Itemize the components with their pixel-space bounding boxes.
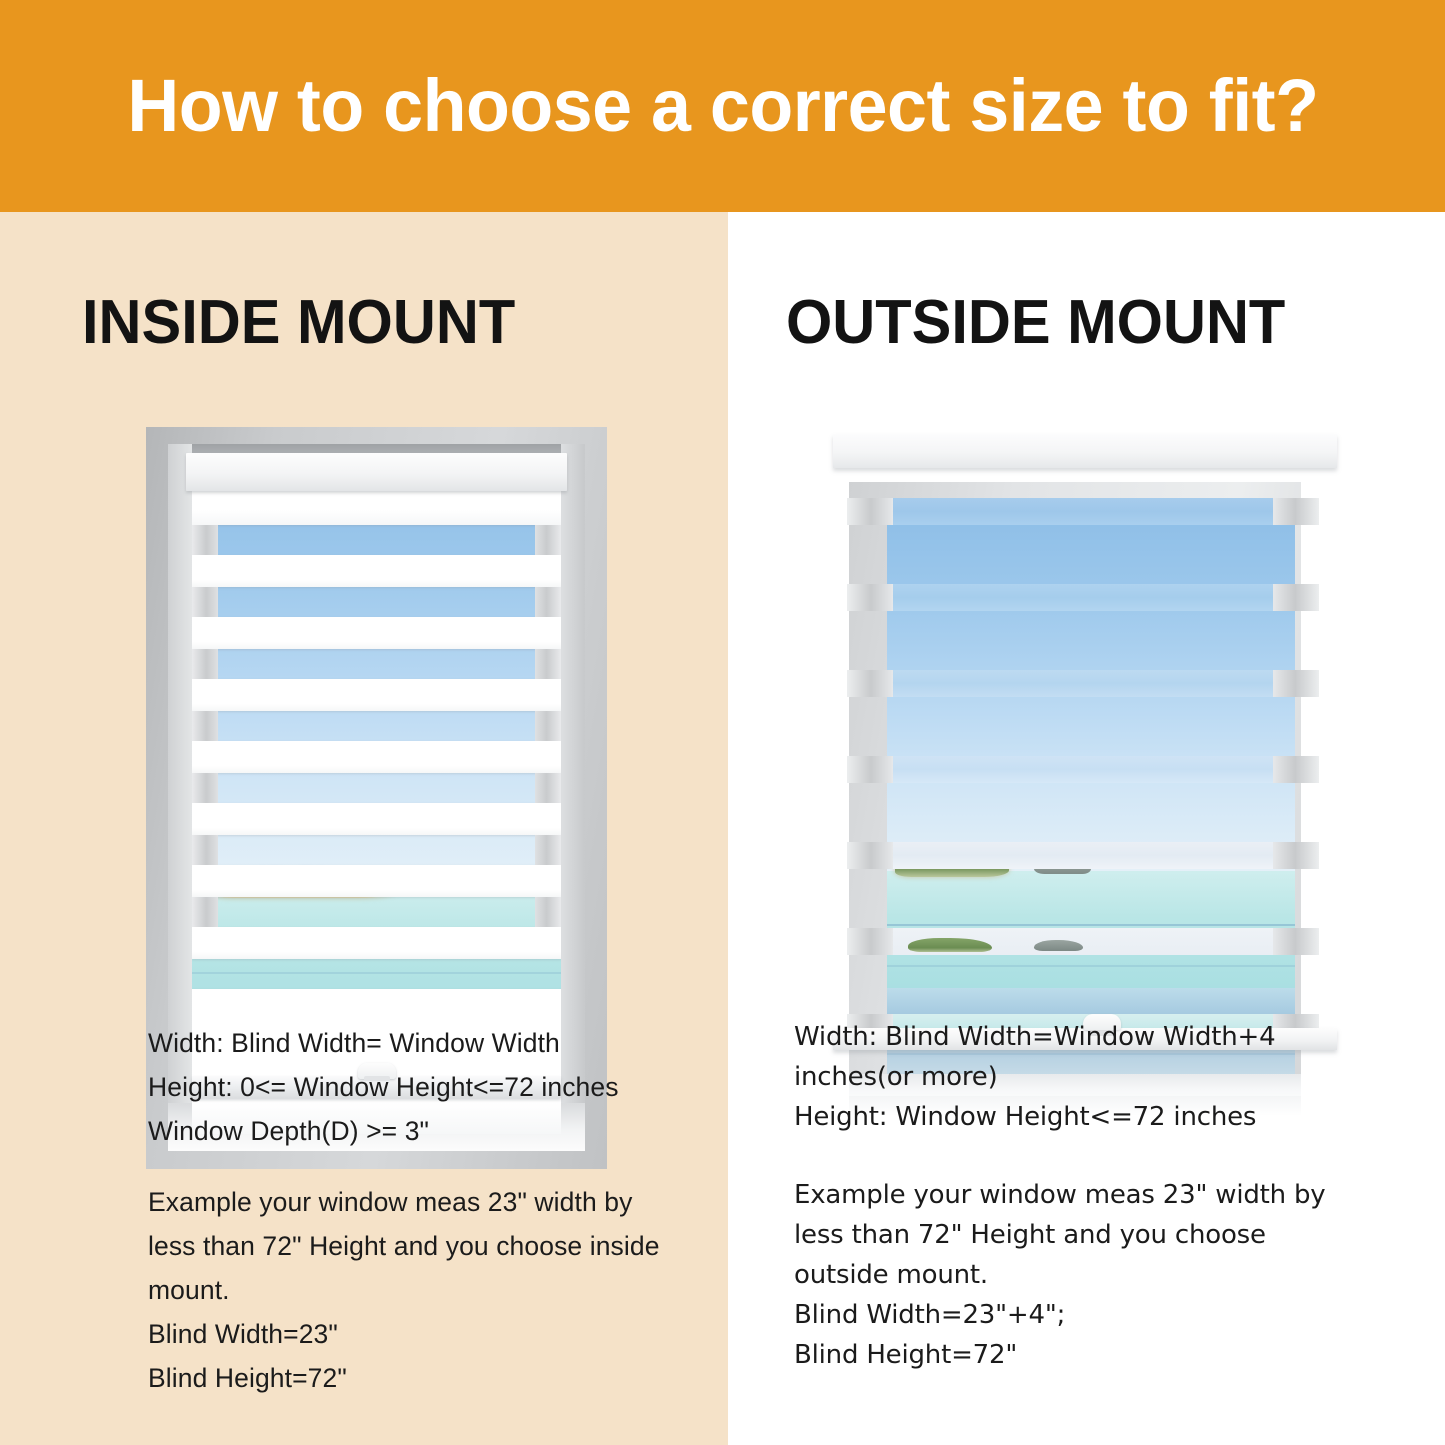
blind-band-edge [535,649,561,679]
blind-band-edge [192,649,218,679]
blind-band-edge [192,587,218,617]
example-line: Blind Height=72" [794,1335,1326,1375]
blind-band-edge [535,587,561,617]
window-frame [849,482,1301,1100]
spec-line: Height: 0<= Window Height<=72 inches [148,1065,619,1109]
blind-band [847,584,1319,611]
spec-line: inches(or more) [794,1057,1275,1097]
scene-wave [887,924,1295,926]
scene-wave [192,972,561,974]
blind-slat [192,927,561,959]
spec-line: Width: Blind Width= Window Width [148,1021,619,1065]
example-line: Blind Height=72" [148,1356,660,1400]
blind-slat [192,741,561,773]
blind-band-see-through [893,756,1273,783]
blind-band-edge [1273,584,1319,611]
blind-slat [192,803,561,835]
blind-band-see-through [893,842,1273,869]
blind-band-edge [1273,756,1319,783]
blind-band-edge [847,498,893,525]
example-line: Example your window meas 23" width by [148,1180,660,1224]
blind-slat [192,865,561,897]
blind-band [847,928,1319,955]
spec-line: Window Depth(D) >= 3" [148,1109,619,1153]
header-banner: How to choose a correct size to fit? [0,0,1445,212]
blind-band-edge [192,711,218,741]
blind-band-see-through [893,670,1273,697]
blind-band-edge [1273,498,1319,525]
scene-island-far [1034,940,1083,951]
blind-band [847,670,1319,697]
heading-outside-mount: OUTSIDE MOUNT [786,292,1285,354]
blind-band-see-through [893,584,1273,611]
inside-spec-text: Width: Blind Width= Window Width Height:… [148,1021,619,1153]
example-line: outside mount. [794,1255,1326,1295]
blind-headrail [186,453,567,491]
page-title: How to choose a correct size to fit? [127,69,1318,143]
heading-inside-mount: INSIDE MOUNT [82,292,515,354]
example-line: less than 72" Height and you choose [794,1215,1326,1255]
blind-band-edge [535,711,561,741]
scene-wave [887,965,1295,967]
blind-band-edge [847,584,893,611]
scene-island [908,938,992,952]
blind-band-see-through [893,928,1273,955]
blind-slat [192,617,561,649]
blind-band-edge [535,525,561,555]
blind-band-edge [535,773,561,803]
example-line: mount. [148,1268,660,1312]
blind-band-edge [1273,670,1319,697]
infographic-page: How to choose a correct size to fit? INS… [0,0,1445,1445]
blind-slat [192,679,561,711]
spec-line: Height: Window Height<=72 inches [794,1097,1275,1137]
blind-band-edge [1273,842,1319,869]
blind-band-edge [535,835,561,865]
blind-band-edge [847,842,893,869]
blind-band [847,756,1319,783]
blind-headrail [833,434,1337,468]
outside-example-text: Example your window meas 23" width by le… [794,1175,1326,1375]
blind-band [847,842,1319,869]
example-line: Blind Width=23"+4"; [794,1295,1326,1335]
blind-band [847,498,1319,525]
blind-band-edge [192,897,218,927]
example-line: Example your window meas 23" width by [794,1175,1326,1215]
blind-band-edge [192,773,218,803]
spec-line: Width: Blind Width=Window Width+4 [794,1017,1275,1057]
blind-slat [192,555,561,587]
blind-band-see-through [893,498,1273,525]
example-line: Blind Width=23" [148,1312,660,1356]
blind-band-edge [847,928,893,955]
inside-example-text: Example your window meas 23" width by le… [148,1180,660,1400]
blind-band-edge [1273,928,1319,955]
panel-outside-mount: OUTSIDE MOUNT [728,212,1445,1445]
example-line: less than 72" Height and you choose insi… [148,1224,660,1268]
blind-band-edge [535,897,561,927]
blind-band-edge [847,756,893,783]
blind-band-edge [847,670,893,697]
blind-band-edge [192,525,218,555]
outside-spec-text: Width: Blind Width=Window Width+4 inches… [794,1017,1275,1137]
blind-band-edge [192,835,218,865]
panel-inside-mount: INSIDE MOUNT [0,212,728,1445]
